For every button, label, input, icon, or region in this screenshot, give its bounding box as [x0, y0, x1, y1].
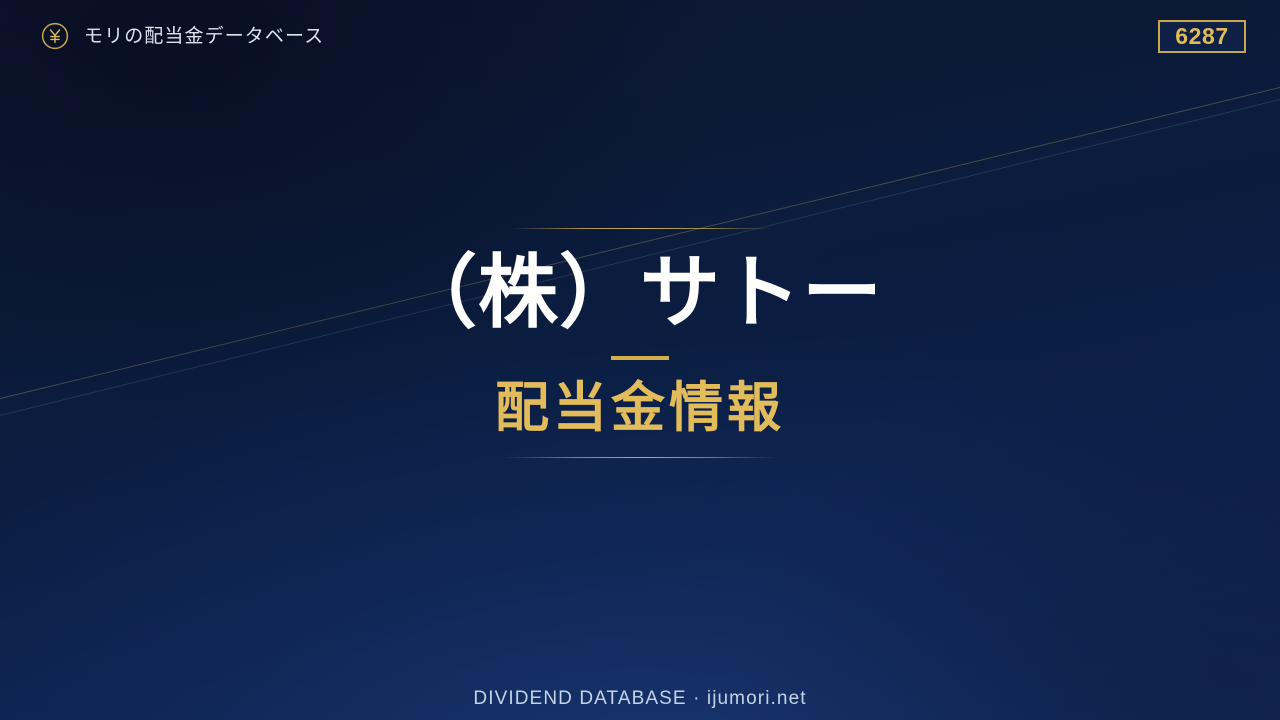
rule-above-title [509, 228, 771, 229]
stock-code-value: 6287 [1175, 25, 1229, 48]
footer-credit: DIVIDEND DATABASE · ijumori.net [473, 688, 806, 709]
title-card: モリの配当金データベース 6287 （株）サトー 配当金情報 DIVIDEND … [0, 0, 1280, 720]
yen-circle-icon [40, 21, 70, 51]
page-header: モリの配当金データベース 6287 [0, 0, 1280, 92]
stock-code-badge: 6287 [1158, 20, 1246, 53]
rule-below-subtitle [504, 457, 776, 458]
page-subtitle: 配当金情報 [495, 378, 785, 438]
gold-divider [611, 356, 669, 360]
brand-name: モリの配当金データベース [84, 26, 324, 46]
page-footer: DIVIDEND DATABASE · ijumori.net [0, 689, 1280, 709]
brand: モリの配当金データベース [40, 21, 324, 51]
company-title: （株）サトー [397, 251, 883, 334]
title-block: （株）サトー 配当金情報 [0, 228, 1280, 458]
